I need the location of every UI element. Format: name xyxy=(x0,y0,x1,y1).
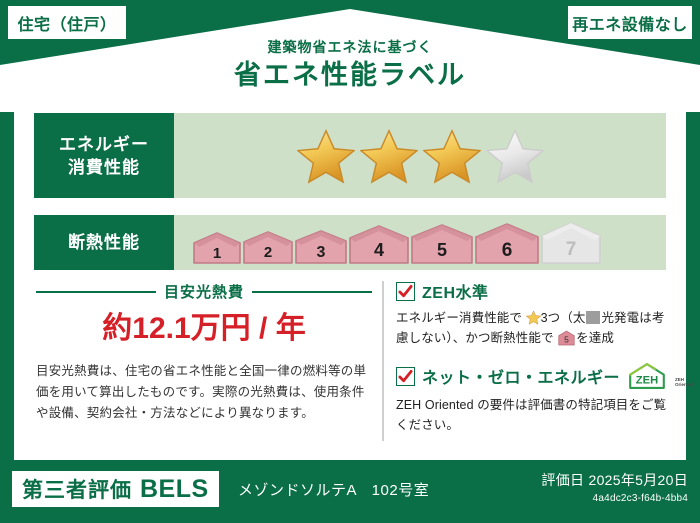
evaluation-id: 4a4dc2c3-f64b-4bb4 xyxy=(541,492,688,506)
building-name: メゾンドソルテA 102号室 xyxy=(238,471,429,507)
header-subtitle: 建築物省エネ法に基づく xyxy=(0,38,700,56)
svg-text:3: 3 xyxy=(317,244,326,261)
zeh-oriented-logo-icon: ZEH xyxy=(627,362,667,390)
svg-text:ZEH: ZEH xyxy=(636,375,658,387)
house-step-6-filled: 6 xyxy=(474,222,540,265)
zeh-logo-caption: ZEH Oriented xyxy=(675,377,694,390)
checkmark-icon-zeh-standard xyxy=(396,282,415,301)
svg-text:5: 5 xyxy=(437,240,447,260)
zeh-standard-heading: ZEH水準 xyxy=(396,279,671,303)
header-title-block: 建築物省エネ法に基づく 省エネ性能ラベル xyxy=(0,38,700,92)
insulation-step-scale: 1234567 xyxy=(174,215,666,270)
utility-cost-heading-text: 目安光熱費 xyxy=(164,281,244,302)
house-step-4-filled: 4 xyxy=(348,224,410,265)
checkmark-icon-zeh-net-zero xyxy=(396,367,415,386)
third-party-label: 第三者評価 xyxy=(22,474,132,504)
rule-left xyxy=(36,291,156,293)
evaluation-date: 評価日 2025年5月20日 xyxy=(541,471,688,490)
star-icon-4-empty xyxy=(486,128,544,184)
star-icon-2-filled xyxy=(360,128,418,184)
main-card: エネルギー 消費性能 xyxy=(14,103,686,460)
rule-right xyxy=(252,291,372,293)
svg-text:4: 4 xyxy=(374,240,384,260)
zeh-item-standard: ZEH水準 エネルギー消費性能で 3つ（太光発電は考慮しない）、かつ断熱性能で … xyxy=(396,279,671,348)
zeh-standard-text-c: を達成 xyxy=(576,331,614,345)
page-title: 省エネ性能ラベル xyxy=(0,58,700,92)
tag-renewable-equipment: 再エネ設備なし xyxy=(568,6,692,39)
zeh-logo-caption-line2: Oriented xyxy=(675,382,694,387)
house-step-1-filled: 1 xyxy=(192,231,242,265)
svg-text:6: 6 xyxy=(502,240,513,261)
footer-meta: 評価日 2025年5月20日 4a4dc2c3-f64b-4bb4 xyxy=(541,471,688,506)
house-step-2-filled: 2 xyxy=(242,230,294,265)
redacted-block xyxy=(586,311,600,324)
third-party-evaluation-badge: 第三者評価 BELS xyxy=(12,471,219,507)
energy-label-line1: エネルギー xyxy=(59,133,149,156)
zeh-standard-title: ZEH水準 xyxy=(422,279,489,303)
energy-performance-row: エネルギー 消費性能 xyxy=(34,113,666,198)
zeh-net-zero-heading: ネット・ゼロ・エネルギー ZEH ZEH Oriented xyxy=(396,362,671,390)
star-icon-3-filled xyxy=(423,128,481,184)
utility-cost-block: 目安光熱費 約12.1万円 / 年 目安光熱費は、住宅の省エネ性能と全国一律の燃… xyxy=(36,281,372,424)
footer-band: 第三者評価 BELS メゾンドソルテA 102号室 評価日 2025年5月20日… xyxy=(0,463,700,523)
inline-star-icon xyxy=(526,310,541,325)
energy-performance-label: エネルギー 消費性能 xyxy=(34,113,174,198)
zeh-net-zero-title: ネット・ゼロ・エネルギー xyxy=(422,364,620,388)
insulation-performance-label: 断熱性能 xyxy=(34,215,174,270)
bels-energy-label: 建築物省エネ法に基づく 省エネ性能ラベル 住宅（住戸） 再エネ設備なし エネルギ… xyxy=(0,0,700,523)
svg-text:7: 7 xyxy=(566,239,577,260)
zeh-column: ZEH水準 エネルギー消費性能で 3つ（太光発電は考慮しない）、かつ断熱性能で … xyxy=(396,279,671,449)
svg-text:2: 2 xyxy=(264,244,272,261)
svg-text:1: 1 xyxy=(213,245,221,262)
energy-star-rating xyxy=(174,113,666,198)
insulation-label-line1: 断熱性能 xyxy=(68,231,140,254)
utility-cost-amount: 約12.1万円 / 年 xyxy=(36,311,372,347)
zeh-net-zero-body: ZEH Oriented の要件は評価書の特記項目をご覧ください。 xyxy=(396,395,671,435)
zeh-item-net-zero: ネット・ゼロ・エネルギー ZEH ZEH Oriented ZEH Orient… xyxy=(396,362,671,435)
zeh-standard-star-count: 3つ（太 xyxy=(541,311,586,325)
utility-cost-note: 目安光熱費は、住宅の省エネ性能と全国一律の燃料等の単価を用いて算出したものです。… xyxy=(36,361,372,424)
star-icon-1-filled xyxy=(297,128,355,184)
svg-text:5: 5 xyxy=(564,335,569,345)
insulation-house-group: 1234567 xyxy=(192,221,602,265)
house-step-5-filled: 5 xyxy=(410,223,474,265)
zeh-standard-text-a: エネルギー消費性能で xyxy=(396,311,522,325)
zeh-standard-body: エネルギー消費性能で 3つ（太光発電は考慮しない）、かつ断熱性能で 5 を達成 xyxy=(396,308,671,348)
house-step-3-filled: 3 xyxy=(294,229,348,265)
house-step-7-empty: 7 xyxy=(540,221,602,265)
vertical-divider xyxy=(382,281,384,441)
tag-building-type: 住宅（住戸） xyxy=(8,6,126,39)
insulation-performance-row: 断熱性能 1234567 xyxy=(34,215,666,270)
energy-label-line2: 消費性能 xyxy=(68,156,140,179)
utility-cost-heading: 目安光熱費 xyxy=(36,281,372,302)
mini-house-badge-icon: 5 xyxy=(558,330,575,346)
bels-logo-text: BELS xyxy=(140,475,209,504)
